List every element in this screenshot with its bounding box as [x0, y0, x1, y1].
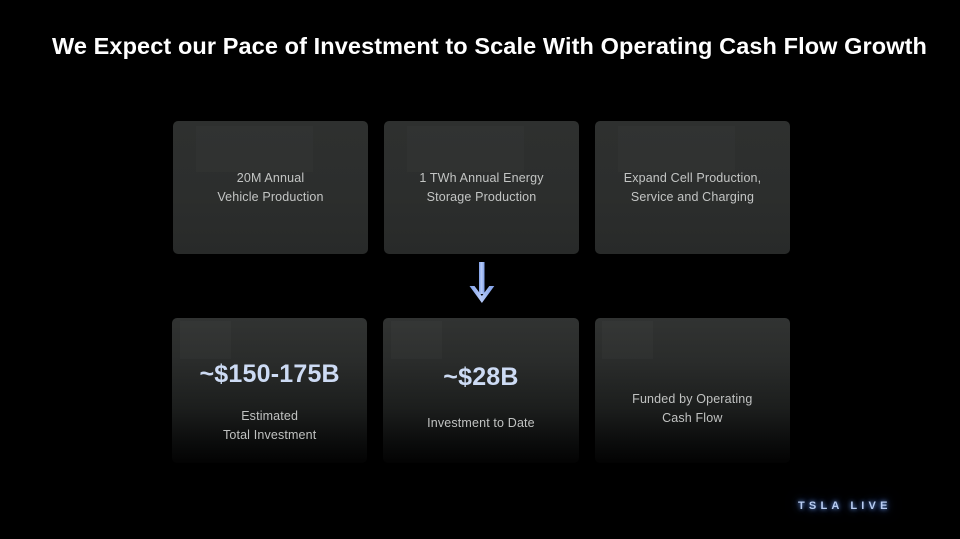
- goals-row: 20M Annual Vehicle Production 1 TWh Annu…: [173, 121, 790, 254]
- goal-card-cell-production: Expand Cell Production, Service and Char…: [595, 121, 790, 254]
- goal-card-line2: Storage Production: [427, 190, 537, 204]
- investment-metric-caption: Investment to Date: [427, 414, 535, 433]
- goal-card-vehicle-production: 20M Annual Vehicle Production: [173, 121, 368, 254]
- goal-card-line1: 1 TWh Annual Energy: [419, 171, 543, 185]
- caption-line1: Estimated: [241, 409, 298, 423]
- goal-card-line1: Expand Cell Production,: [624, 171, 762, 185]
- investment-card-funding-source: Funded by Operating Cash Flow: [595, 318, 790, 463]
- tsla-live-watermark: TSLA LIVE: [798, 500, 892, 512]
- investment-metric-caption: Funded by Operating Cash Flow: [632, 390, 752, 427]
- investment-metric-value: ~$28B: [443, 363, 518, 392]
- page-title: We Expect our Pace of Investment to Scal…: [52, 33, 927, 60]
- investment-card-total: ~$150-175B Estimated Total Investment: [172, 318, 367, 463]
- caption-line1: Investment to Date: [427, 416, 535, 430]
- caption-line2: Total Investment: [223, 428, 316, 442]
- caption-line2: Cash Flow: [662, 411, 722, 425]
- goal-card-label: 20M Annual Vehicle Production: [217, 169, 323, 207]
- investment-metric-value: ~$150-175B: [200, 360, 340, 389]
- investment-metric-caption: Estimated Total Investment: [223, 407, 316, 444]
- investment-card-to-date: ~$28B Investment to Date: [383, 318, 578, 463]
- goal-card-line2: Service and Charging: [631, 190, 754, 204]
- goal-card-line2: Vehicle Production: [217, 190, 323, 204]
- presentation-slide: We Expect our Pace of Investment to Scal…: [0, 0, 960, 539]
- caption-line1: Funded by Operating: [632, 392, 752, 406]
- arrow-down-icon: [462, 260, 502, 306]
- goal-card-label: 1 TWh Annual Energy Storage Production: [419, 169, 543, 207]
- investment-row: ~$150-175B Estimated Total Investment ~$…: [172, 318, 790, 463]
- goal-card-label: Expand Cell Production, Service and Char…: [624, 169, 762, 207]
- goal-card-line1: 20M Annual: [237, 171, 305, 185]
- goal-card-energy-storage: 1 TWh Annual Energy Storage Production: [384, 121, 579, 254]
